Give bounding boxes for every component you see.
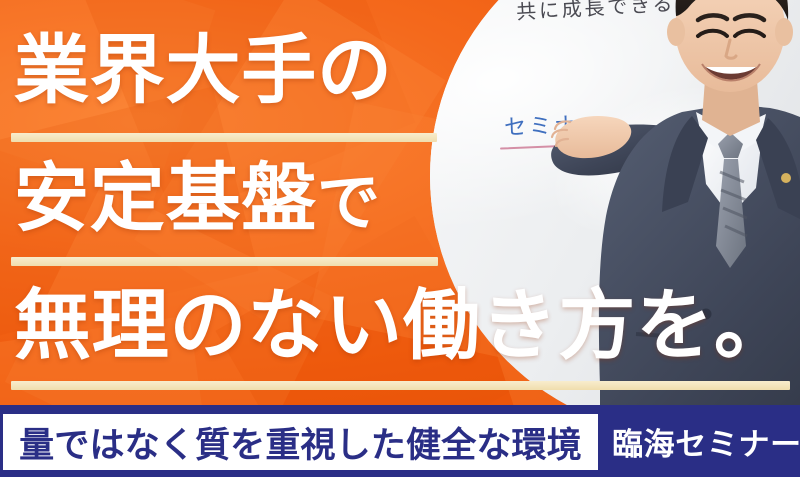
headline-block: 業界大手の 安定基盤で 無理のない働き方を。 — [0, 0, 800, 405]
brand-block: 臨海セミナー — [612, 405, 800, 477]
headline-line-2-kana: で — [317, 166, 381, 239]
headline-line-3: 無理のない働き方を。 — [14, 288, 792, 365]
headline-line-1: 業界大手の — [14, 33, 393, 108]
headline-underline-3 — [11, 381, 790, 390]
catchphrase-text: 量ではなく質を重視した健全な環境 — [19, 417, 582, 468]
headline-underline-2 — [11, 257, 438, 266]
headline-underline-1 — [11, 133, 437, 142]
catchphrase-box: 量ではなく質を重視した健全な環境 — [3, 414, 598, 470]
headline-line-2-kanji: 安定基盤 — [14, 154, 317, 242]
footer-bar: 量ではなく質を重視した健全な環境 臨海セミナー — [0, 405, 800, 477]
brand-name: 臨海セミナー — [612, 419, 800, 464]
recruitment-banner: 共に成長できる!! セミナー — [0, 0, 800, 477]
headline-line-2: 安定基盤で — [14, 161, 381, 236]
